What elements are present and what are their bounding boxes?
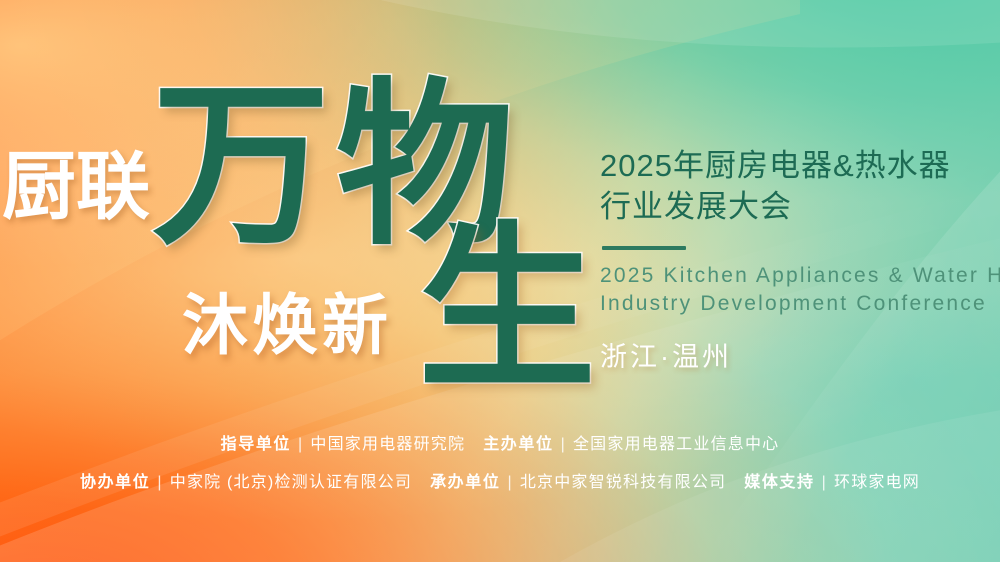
headline-brand: 厨联: [2, 150, 150, 224]
credit-role-label: 主办单位: [483, 436, 553, 453]
credit-role-label: 指导单位: [221, 436, 291, 453]
headline-sub: 沐焕新: [182, 292, 392, 358]
credits-line-1: 指导单位|中国家用电器研究院主办单位|全国家用电器工业信息中心: [0, 428, 1000, 462]
credit-role-label: 协办单位: [80, 474, 150, 491]
credit-organization-name: 中家院 (北京)检测认证有限公司: [170, 474, 412, 491]
conference-title-english-line2: Industry Development Conference: [600, 290, 992, 318]
credit-organization-name: 北京中家智锐科技有限公司: [520, 474, 726, 491]
poster-content: 厨联 万物 生 沐焕新 2025年厨房电器&热水器 行业发展大会 2025 Ki…: [0, 0, 1000, 562]
conference-title-english-line1: 2025 Kitchen Appliances & Water Heater: [600, 262, 992, 290]
credit-separator: |: [150, 466, 169, 500]
credit-organization-name: 中国家用电器研究院: [310, 436, 465, 453]
conference-title-line1: 2025年厨房电器&热水器: [600, 146, 992, 187]
credit-separator: |: [815, 466, 834, 500]
credit-organization-name: 全国家用电器工业信息中心: [573, 436, 779, 453]
credits-line-2: 协办单位|中家院 (北京)检测认证有限公司承办单位|北京中家智锐科技有限公司媒体…: [0, 466, 1000, 500]
credit-role-label: 承办单位: [430, 474, 500, 491]
conference-info-block: 2025年厨房电器&热水器 行业发展大会 2025 Kitchen Applia…: [600, 146, 992, 371]
credit-separator: |: [500, 466, 519, 500]
conference-location: 浙江·温州: [600, 344, 992, 371]
credit-organization-name: 环球家电网: [834, 474, 920, 491]
credit-role-label: 媒体支持: [744, 474, 814, 491]
title-divider-rule: [602, 246, 686, 250]
headline-primary-second: 生: [418, 222, 596, 400]
credit-separator: |: [554, 428, 573, 462]
conference-poster: 厨联 万物 生 沐焕新 2025年厨房电器&热水器 行业发展大会 2025 Ki…: [0, 0, 1000, 562]
conference-title-line2: 行业发展大会: [600, 187, 992, 228]
credit-separator: |: [291, 428, 310, 462]
credits-block: 指导单位|中国家用电器研究院主办单位|全国家用电器工业信息中心 协办单位|中家院…: [0, 428, 1000, 500]
